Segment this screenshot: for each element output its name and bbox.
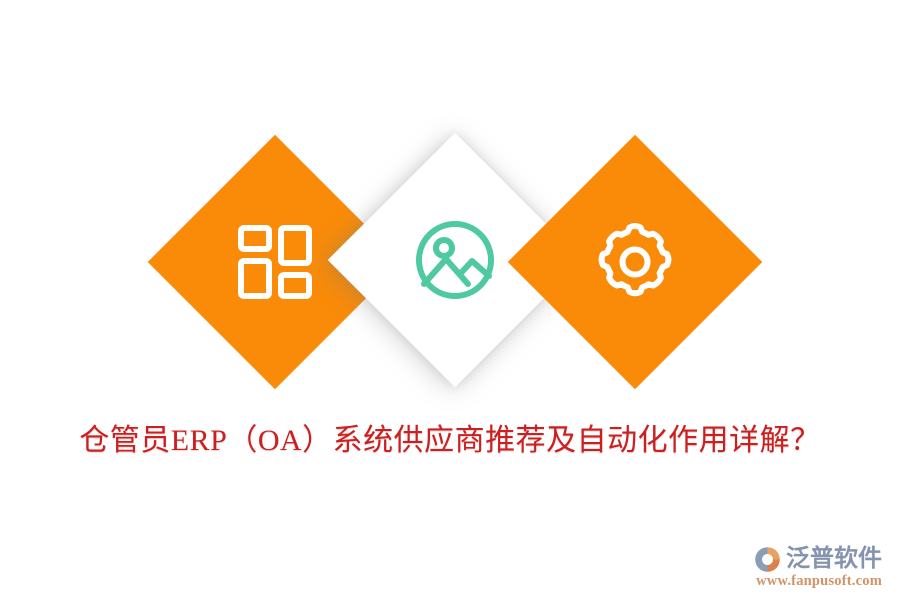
tile-gear-settings[interactable]: [508, 135, 763, 390]
diamond-tile-cluster: [0, 0, 900, 400]
fanpu-swoosh-logo-icon: [754, 546, 781, 573]
page-canvas: 仓管员ERP（OA）系统供应商推荐及自动化作用详解？ 泛普软件 www.fanp…: [0, 0, 900, 600]
gear-settings-icon: [585, 212, 685, 312]
brand-watermark: 泛普软件 www.fanpusoft.com: [754, 546, 882, 589]
brand-lockup: 泛普软件: [754, 546, 882, 573]
brand-url: www.fanpusoft.com: [756, 574, 882, 589]
grid-dashboard-icon: [225, 212, 325, 312]
page-title: 仓管员ERP（OA）系统供应商推荐及自动化作用详解？: [0, 415, 900, 459]
image-photo-icon: [405, 210, 505, 310]
brand-name: 泛普软件: [786, 547, 882, 571]
